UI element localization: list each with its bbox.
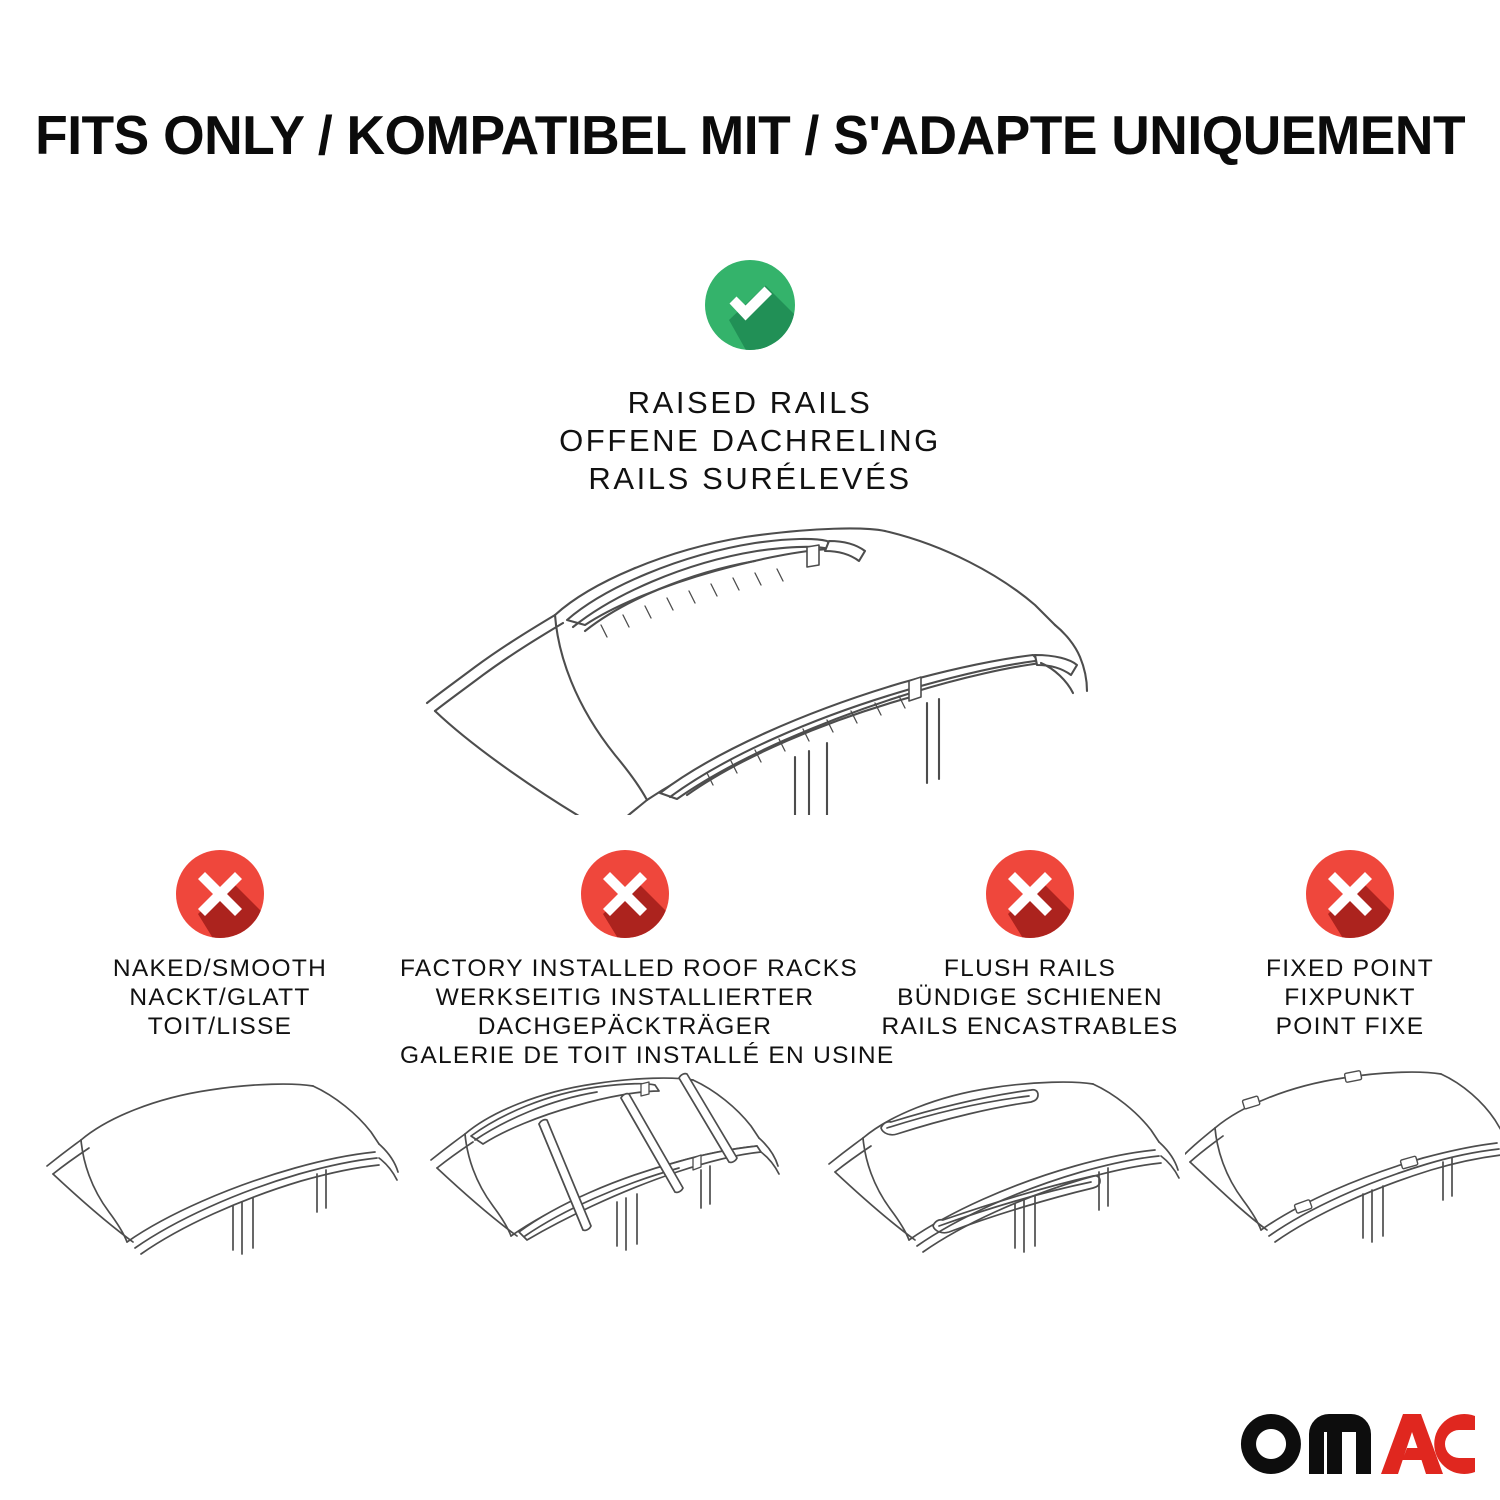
compatible-label-de: OFFENE DACHRELING xyxy=(0,422,1500,460)
page-title: FITS ONLY / KOMPATIBEL MIT / S'ADAPTE UN… xyxy=(35,104,1465,166)
page-title-bar: FITS ONLY / KOMPATIBEL MIT / S'ADAPTE UN… xyxy=(0,104,1500,166)
car-roof-naked-smooth-illustration xyxy=(45,1062,415,1277)
incompatible-label-en: FACTORY INSTALLED ROOF RACKS xyxy=(400,954,850,983)
incompatible-labels: FLUSH RAILS BÜNDIGE SCHIENEN RAILS ENCAS… xyxy=(865,954,1195,1041)
compatible-label-fr: RAILS SURÉLEVÉS xyxy=(0,460,1500,498)
incompatible-label-de: FIXPUNKT xyxy=(1210,983,1490,1012)
incompatible-labels: NAKED/SMOOTH NACKT/GLATT TOIT/LISSE xyxy=(60,954,380,1041)
incompatible-section: NAKED/SMOOTH NACKT/GLATT TOIT/LISSE FACT… xyxy=(0,848,1500,1058)
car-roof-raised-rails-illustration xyxy=(415,505,1105,815)
car-roof-fixed-point-illustration xyxy=(1185,1062,1500,1277)
x-circle-icon xyxy=(174,848,266,940)
incompatible-item-naked-smooth: NAKED/SMOOTH NACKT/GLATT TOIT/LISSE xyxy=(60,848,380,1041)
incompatible-label-fr: RAILS ENCASTRABLES xyxy=(865,1012,1195,1041)
incompatible-label-en: NAKED/SMOOTH xyxy=(60,954,380,983)
incompatible-label-de-2: DACHGEPÄCKTRÄGER xyxy=(400,1012,850,1041)
incompatible-label-en: FIXED POINT xyxy=(1210,954,1490,983)
incompatible-label-de-1: WERKSEITIG INSTALLIERTER xyxy=(400,983,850,1012)
incompatible-labels: FACTORY INSTALLED ROOF RACKS WERKSEITIG … xyxy=(400,954,850,1070)
incompatible-label-en: FLUSH RAILS xyxy=(865,954,1195,983)
compatible-section: RAISED RAILS OFFENE DACHRELING RAILS SUR… xyxy=(0,258,1500,498)
incompatible-labels: FIXED POINT FIXPUNKT POINT FIXE xyxy=(1210,954,1490,1041)
incompatible-label-de: NACKT/GLATT xyxy=(60,983,380,1012)
check-circle-icon xyxy=(703,258,797,352)
incompatible-item-flush-rails: FLUSH RAILS BÜNDIGE SCHIENEN RAILS ENCAS… xyxy=(865,848,1195,1041)
compatible-labels: RAISED RAILS OFFENE DACHRELING RAILS SUR… xyxy=(0,384,1500,498)
compatible-label-en: RAISED RAILS xyxy=(0,384,1500,422)
car-roof-factory-racks-illustration xyxy=(425,1062,800,1277)
x-circle-icon xyxy=(1304,848,1396,940)
x-circle-icon xyxy=(984,848,1076,940)
x-circle-icon xyxy=(579,848,671,940)
omac-logo xyxy=(1235,1408,1475,1480)
incompatible-label-fr: TOIT/LISSE xyxy=(60,1012,380,1041)
incompatible-item-factory-roof-racks: FACTORY INSTALLED ROOF RACKS WERKSEITIG … xyxy=(400,848,850,1070)
incompatible-item-fixed-point: FIXED POINT FIXPUNKT POINT FIXE xyxy=(1210,848,1490,1041)
incompatible-label-fr: POINT FIXE xyxy=(1210,1012,1490,1041)
car-roof-flush-rails-illustration xyxy=(825,1062,1200,1277)
incompatible-label-de: BÜNDIGE SCHIENEN xyxy=(865,983,1195,1012)
